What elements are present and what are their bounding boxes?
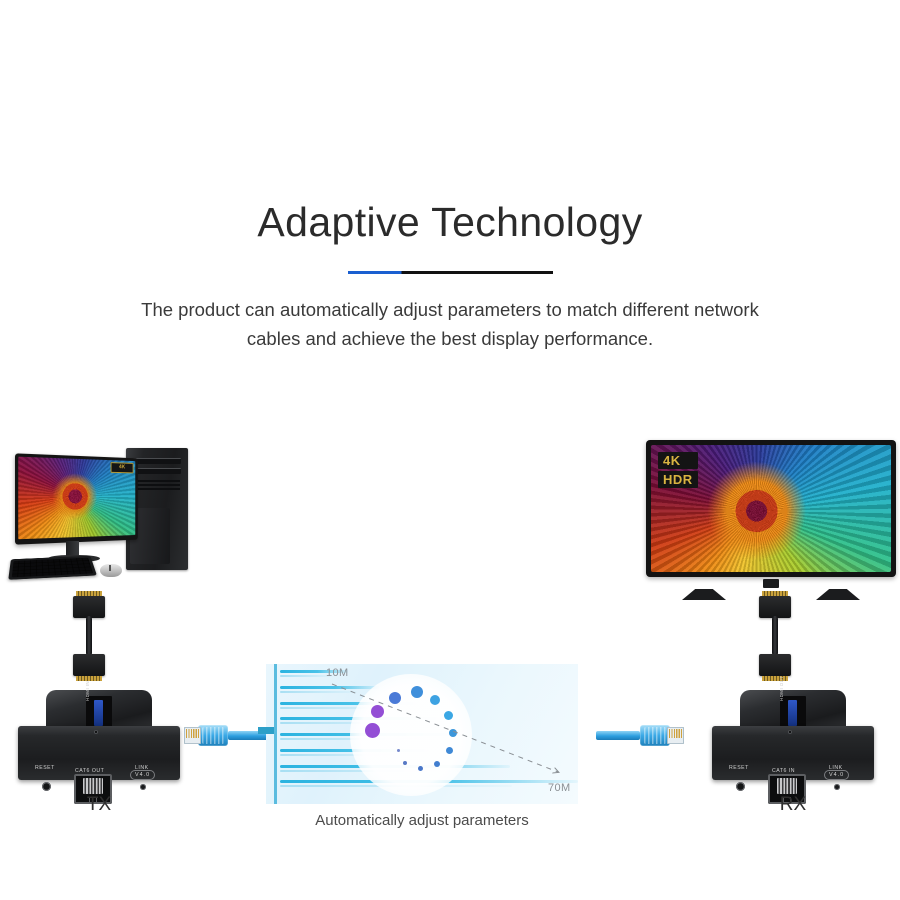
rx-port-label: CAT6 IN [772, 768, 795, 774]
header-section: Adaptive Technology The product can auto… [0, 200, 900, 353]
tx-version-badge: V4.0 [130, 770, 155, 780]
page-subtitle: The product can automatically adjust par… [120, 296, 780, 353]
title-divider [348, 271, 553, 274]
rx-version-badge: V4.0 [824, 770, 849, 780]
tx-hdmi-port: HDMI IN [86, 696, 112, 730]
television-illustration: 4K HDR [646, 440, 896, 600]
tv-stand-right [816, 589, 860, 600]
chart-label-far: 70M [548, 782, 571, 794]
chart-axis [274, 664, 277, 804]
tx-reset-label: RESET [35, 765, 55, 771]
chart-input-stub [258, 727, 274, 734]
rx-link-label: LINK [829, 765, 843, 771]
tx-front-panel: RESET CAT6 OUT V4.0 LINK [18, 726, 180, 780]
rx-reset-label: RESET [729, 765, 749, 771]
tv-badge-hdr: HDR [658, 471, 698, 488]
hdmi-connector-top [759, 596, 791, 618]
hdmi-cable-right [748, 588, 802, 684]
tx-reset-button[interactable] [42, 782, 51, 791]
mouse-icon [100, 564, 122, 577]
tx-link-led [140, 784, 146, 790]
chart-label-near: 10M [326, 667, 349, 679]
monitor-icon: 4K [15, 453, 138, 544]
hdmi-connector-top [73, 596, 105, 618]
rx-device-label: RX [712, 794, 874, 816]
tv-badge-4k: 4K [658, 452, 698, 469]
hdmi-wire [772, 616, 778, 656]
ethernet-boot [640, 725, 670, 746]
rj45-connector [184, 727, 201, 744]
tv-4k-hdr-badge: 4K HDR [658, 452, 698, 490]
tv-bezel: 4K HDR [646, 440, 896, 577]
hdmi-connector-bottom [73, 654, 105, 676]
ethernet-cable-right [596, 718, 684, 752]
tx-port-label: CAT6 OUT [75, 768, 104, 774]
keyboard-icon [8, 556, 97, 580]
tv-logo [763, 579, 779, 588]
ethernet-cable-left [184, 718, 272, 752]
tv-stand-left [682, 589, 726, 600]
hdmi-connector-bottom [759, 654, 791, 676]
adaptive-parameters-chart [266, 664, 578, 804]
transmitter-device: HDMI IN RESET CAT6 OUT V4.0 LINK TX [18, 690, 180, 794]
hdmi-cable-left [62, 588, 116, 684]
rx-front-panel: RESET CAT6 IN V4.0 LINK [712, 726, 874, 780]
promo-page: Adaptive Technology The product can auto… [0, 0, 900, 900]
rx-reset-button[interactable] [736, 782, 745, 791]
receiver-device: HDMI OUT RESET CAT6 IN V4.0 LINK RX [712, 690, 874, 794]
hdmi-wire [86, 616, 92, 656]
rx-link-led [834, 784, 840, 790]
tx-link-label: LINK [135, 765, 149, 771]
desktop-computer-illustration: 4K [4, 442, 194, 600]
monitor-4k-badge: 4K [111, 462, 134, 473]
trend-arrow-icon [330, 682, 568, 778]
tx-device-label: TX [18, 794, 180, 816]
chart-caption: Automatically adjust parameters [266, 812, 578, 829]
rx-hdmi-port: HDMI OUT [780, 696, 806, 730]
page-title: Adaptive Technology [0, 200, 900, 245]
rj45-connector [667, 727, 684, 744]
ethernet-boot [198, 725, 228, 746]
ethernet-lead [596, 731, 640, 740]
